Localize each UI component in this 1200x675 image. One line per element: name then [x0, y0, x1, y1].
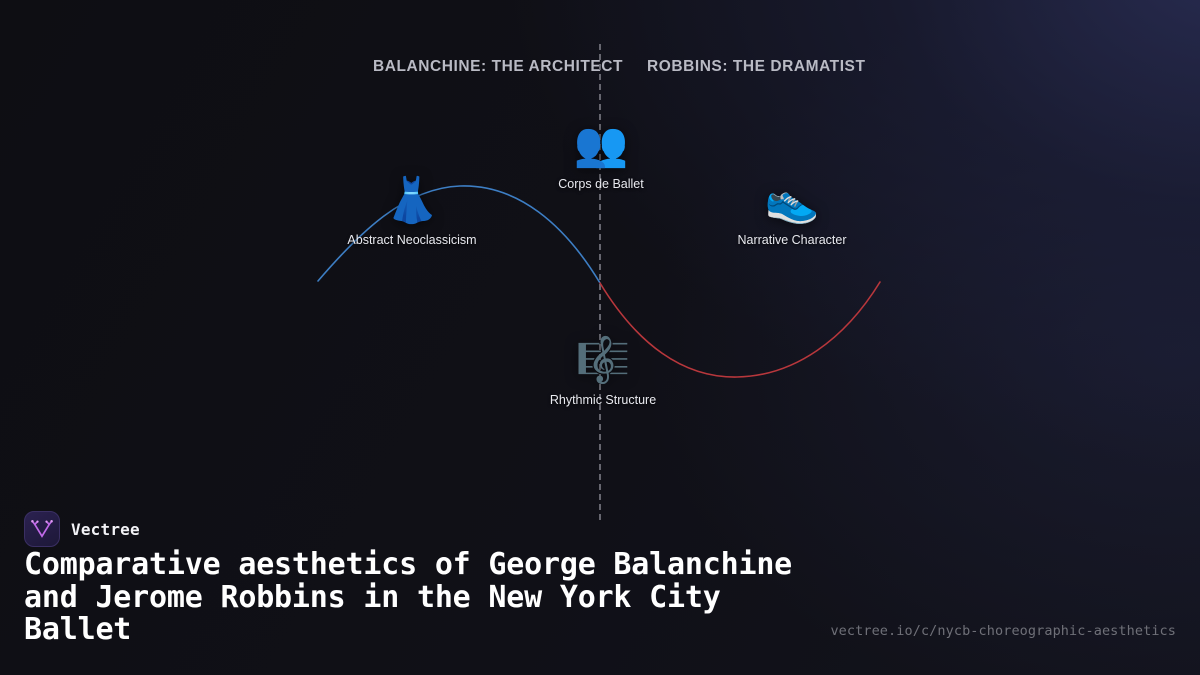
musical-score-icon: 🎼 [576, 336, 631, 386]
brand-lockup[interactable]: Vectree [24, 511, 140, 547]
node-label: Rhythmic Structure [550, 393, 656, 407]
node-narrative-character[interactable]: 👟 Narrative Character [737, 176, 846, 247]
node-label: Narrative Character [737, 233, 846, 247]
node-rhythmic-structure[interactable]: 🎼 Rhythmic Structure [550, 336, 656, 407]
axis-label-right: ROBBINS: THE DRAMATIST [647, 58, 865, 76]
node-corps-de-ballet[interactable]: 👥 Corps de Ballet [558, 120, 643, 191]
page-title: Comparative aesthetics of George Balanch… [24, 549, 844, 647]
axis-label-left: BALANCHINE: THE ARCHITECT [373, 58, 623, 76]
node-label: Corps de Ballet [558, 177, 643, 191]
dress-icon: 👗 [385, 176, 440, 226]
infographic-canvas: BALANCHINE: THE ARCHITECT ROBBINS: THE D… [0, 0, 1200, 675]
running-shoe-icon: 👟 [765, 176, 820, 226]
vectree-logo-icon [24, 511, 60, 547]
source-url: vectree.io/c/nycb-choreographic-aestheti… [830, 623, 1176, 639]
vertical-divider [599, 44, 601, 520]
brand-name: Vectree [71, 520, 140, 539]
node-label: Abstract Neoclassicism [347, 233, 476, 247]
node-abstract-neoclassicism[interactable]: 👗 Abstract Neoclassicism [347, 176, 476, 247]
busts-in-silhouette-icon: 👥 [574, 120, 629, 170]
